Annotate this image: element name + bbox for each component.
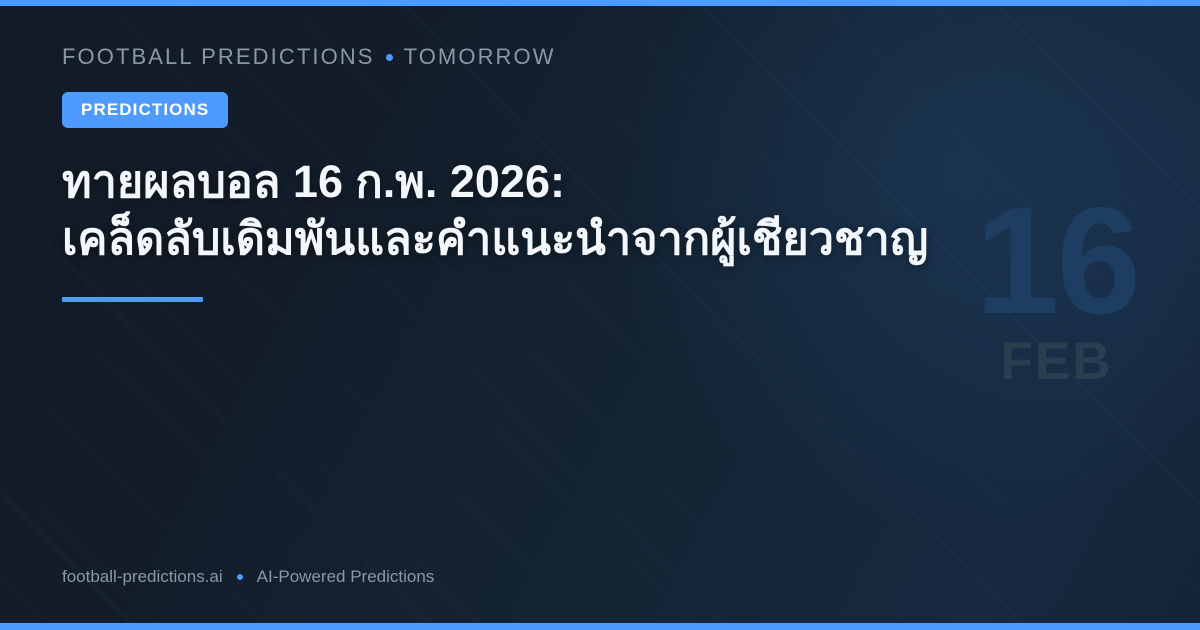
eyebrow-secondary-label: TOMORROW: [404, 44, 556, 70]
footer-tagline-label: AI-Powered Predictions: [257, 567, 435, 587]
page-title-line-2: เคล็ดลับเดิมพันและคำแนะนำจากผู้เชียวชาญ: [62, 211, 992, 268]
bullet-dot-icon: [386, 54, 393, 61]
page-title-line-1: ทายผลบอล 16 ก.พ. 2026:: [62, 154, 992, 211]
footer-site-label: football-predictions.ai: [62, 567, 223, 587]
footer-bullet-dot-icon: [237, 574, 243, 580]
eyebrow-primary-label: FOOTBALL PREDICTIONS: [62, 44, 375, 70]
footer: football-predictions.ai AI-Powered Predi…: [62, 567, 434, 587]
accent-bar-bottom: [0, 623, 1200, 630]
accent-bar-top: [0, 0, 1200, 6]
title-underline-rule: [62, 297, 203, 302]
page-title: ทายผลบอล 16 ก.พ. 2026: เคล็ดลับเดิมพันแล…: [62, 154, 992, 267]
predictions-badge: PREDICTIONS: [62, 92, 228, 128]
content-block: FOOTBALL PREDICTIONS TOMORROW PREDICTION…: [62, 44, 1012, 302]
eyebrow: FOOTBALL PREDICTIONS TOMORROW: [62, 44, 1012, 70]
og-image-canvas: 16 FEB FOOTBALL PREDICTIONS TOMORROW PRE…: [0, 0, 1200, 630]
